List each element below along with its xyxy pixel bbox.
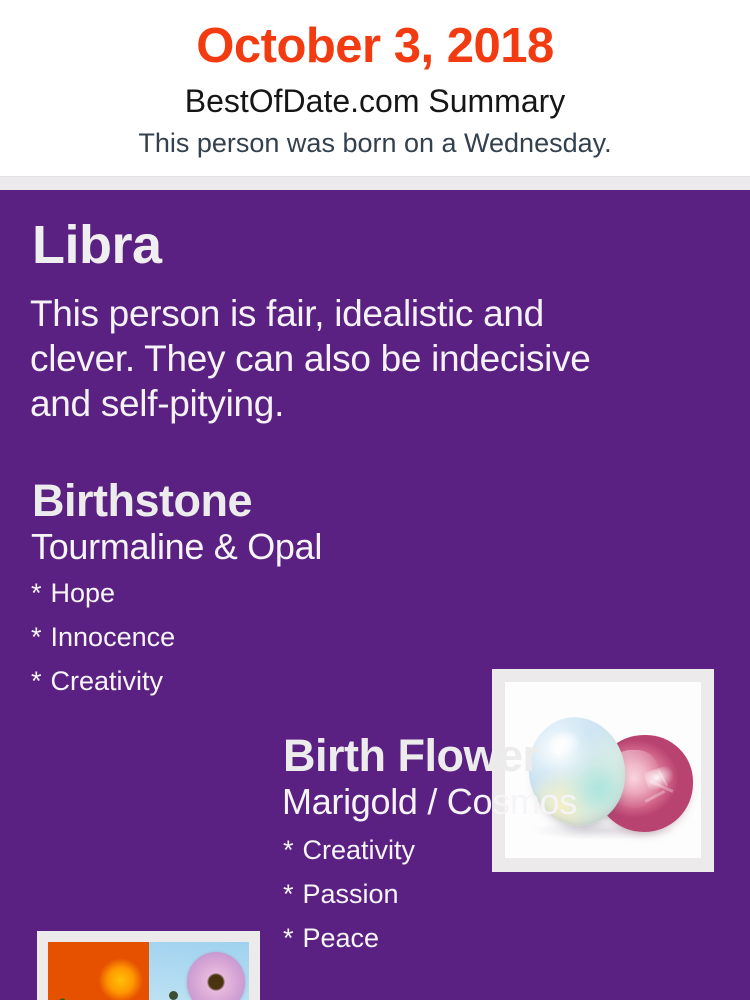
birthstone-trait-list: *Hope *Innocence *Creativity [31, 580, 451, 712]
list-item: *Peace [283, 925, 683, 952]
flower-bud [169, 991, 178, 1000]
marigold-photo-half [48, 942, 149, 1000]
birthstone-heading: Birthstone [32, 478, 252, 523]
site-summary-subtitle: BestOfDate.com Summary [0, 84, 750, 119]
list-item: *Innocence [31, 624, 451, 651]
page-title-date: October 3, 2018 [0, 22, 750, 71]
birthflower-photo-frame [37, 931, 260, 1000]
asterisk-icon: * [283, 835, 294, 865]
asterisk-icon: * [31, 622, 42, 652]
gem-facet [645, 790, 665, 803]
birthflower-trait-list: *Creativity *Passion *Peace [283, 837, 683, 969]
flower-illustration [48, 942, 249, 1000]
content-panel: Libra This person is fair, idealistic an… [0, 190, 750, 1000]
list-item: *Creativity [283, 837, 683, 864]
zodiac-description: This person is fair, idealistic and clev… [30, 291, 620, 426]
list-item: *Passion [283, 881, 683, 908]
header-divider [0, 176, 750, 191]
trait-label: Hope [51, 578, 116, 608]
born-day-text: This person was born on a Wednesday. [0, 129, 750, 159]
birthflower-heading: Birth Flower [283, 733, 540, 778]
list-item: *Hope [31, 580, 451, 607]
asterisk-icon: * [283, 879, 294, 909]
trait-label: Innocence [51, 622, 176, 652]
cosmos-bloom [187, 952, 245, 1000]
asterisk-icon: * [31, 666, 42, 696]
cosmos-photo-half [149, 942, 250, 1000]
birthday-summary-card: October 3, 2018 BestOfDate.com Summary T… [0, 0, 750, 1000]
birthflower-photo [48, 942, 249, 1000]
trait-label: Creativity [51, 666, 164, 696]
card-header: October 3, 2018 BestOfDate.com Summary T… [0, 0, 750, 176]
birthflower-names: Marigold / Cosmos [282, 784, 577, 820]
trait-label: Creativity [303, 835, 416, 865]
asterisk-icon: * [31, 578, 42, 608]
gem-facet [658, 770, 668, 787]
trait-label: Peace [303, 923, 380, 953]
birthstone-names: Tourmaline & Opal [31, 529, 322, 565]
list-item: *Creativity [31, 668, 451, 695]
trait-label: Passion [303, 879, 399, 909]
zodiac-sign-heading: Libra [32, 218, 162, 272]
asterisk-icon: * [283, 923, 294, 953]
